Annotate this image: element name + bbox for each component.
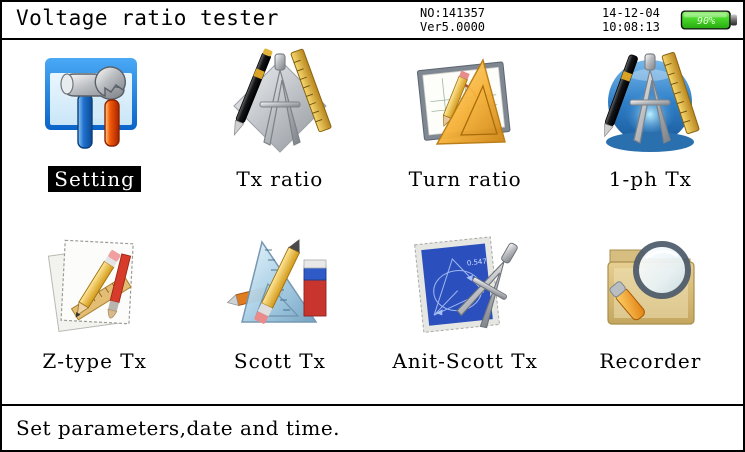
device-info: NO:141357 Ver5.0000 [420,6,485,34]
device-screen: Voltage ratio tester NO:141357 Ver5.0000… [0,0,745,452]
header-bar: Voltage ratio tester NO:141357 Ver5.0000… [2,2,743,40]
menu-label-recorder: Recorder [593,348,707,374]
folder-search-icon [590,228,710,346]
menu-item-turn-ratio[interactable]: Turn ratio [373,40,558,222]
date-label: 14-12-04 [602,6,660,20]
paper-pencil-icon [35,228,155,346]
menu-item-anit-scott-tx[interactable]: 0.547 Anit-Scott Tx [373,222,558,404]
menu-label-setting: Setting [48,166,141,192]
menu-label-turn-ratio: Turn ratio [403,166,528,192]
datetime-display: 14-12-04 10:08:13 [602,6,660,34]
page-title: Voltage ratio tester [16,6,279,30]
set-square-icon [220,228,340,346]
menu-label-anit-scott-tx: Anit-Scott Tx [386,348,544,374]
compass-circle-icon [590,46,710,164]
menu-item-setting[interactable]: Setting [2,40,187,222]
status-hint: Set parameters,date and time. [2,416,340,440]
blueprint-compass-icon: 0.547 [405,228,525,346]
main-menu-grid: Setting [2,40,743,406]
menu-item-z-type-tx[interactable]: Z-type Tx [2,222,187,404]
menu-label-1ph-tx: 1-ph Tx [603,166,698,192]
firmware-version: Ver5.0000 [420,20,485,34]
triangle-ruler-icon [405,46,525,164]
battery-percent-label: 90% [697,16,715,27]
serial-number: NO:141357 [420,6,485,20]
menu-item-tx-ratio[interactable]: Tx ratio [187,40,372,222]
compass-diamond-icon [220,46,340,164]
battery-indicator: 90% [680,9,738,31]
menu-label-z-type-tx: Z-type Tx [36,348,153,374]
menu-label-scott-tx: Scott Tx [228,348,332,374]
battery-icon: 90% [680,9,738,31]
menu-label-tx-ratio: Tx ratio [230,166,329,192]
menu-item-scott-tx[interactable]: Scott Tx [187,222,372,404]
menu-item-1ph-tx[interactable]: 1-ph Tx [558,40,743,222]
time-label: 10:08:13 [602,20,660,34]
menu-item-recorder[interactable]: Recorder [558,222,743,404]
tools-window-icon [35,46,155,164]
status-bar: Set parameters,date and time. [2,406,743,450]
